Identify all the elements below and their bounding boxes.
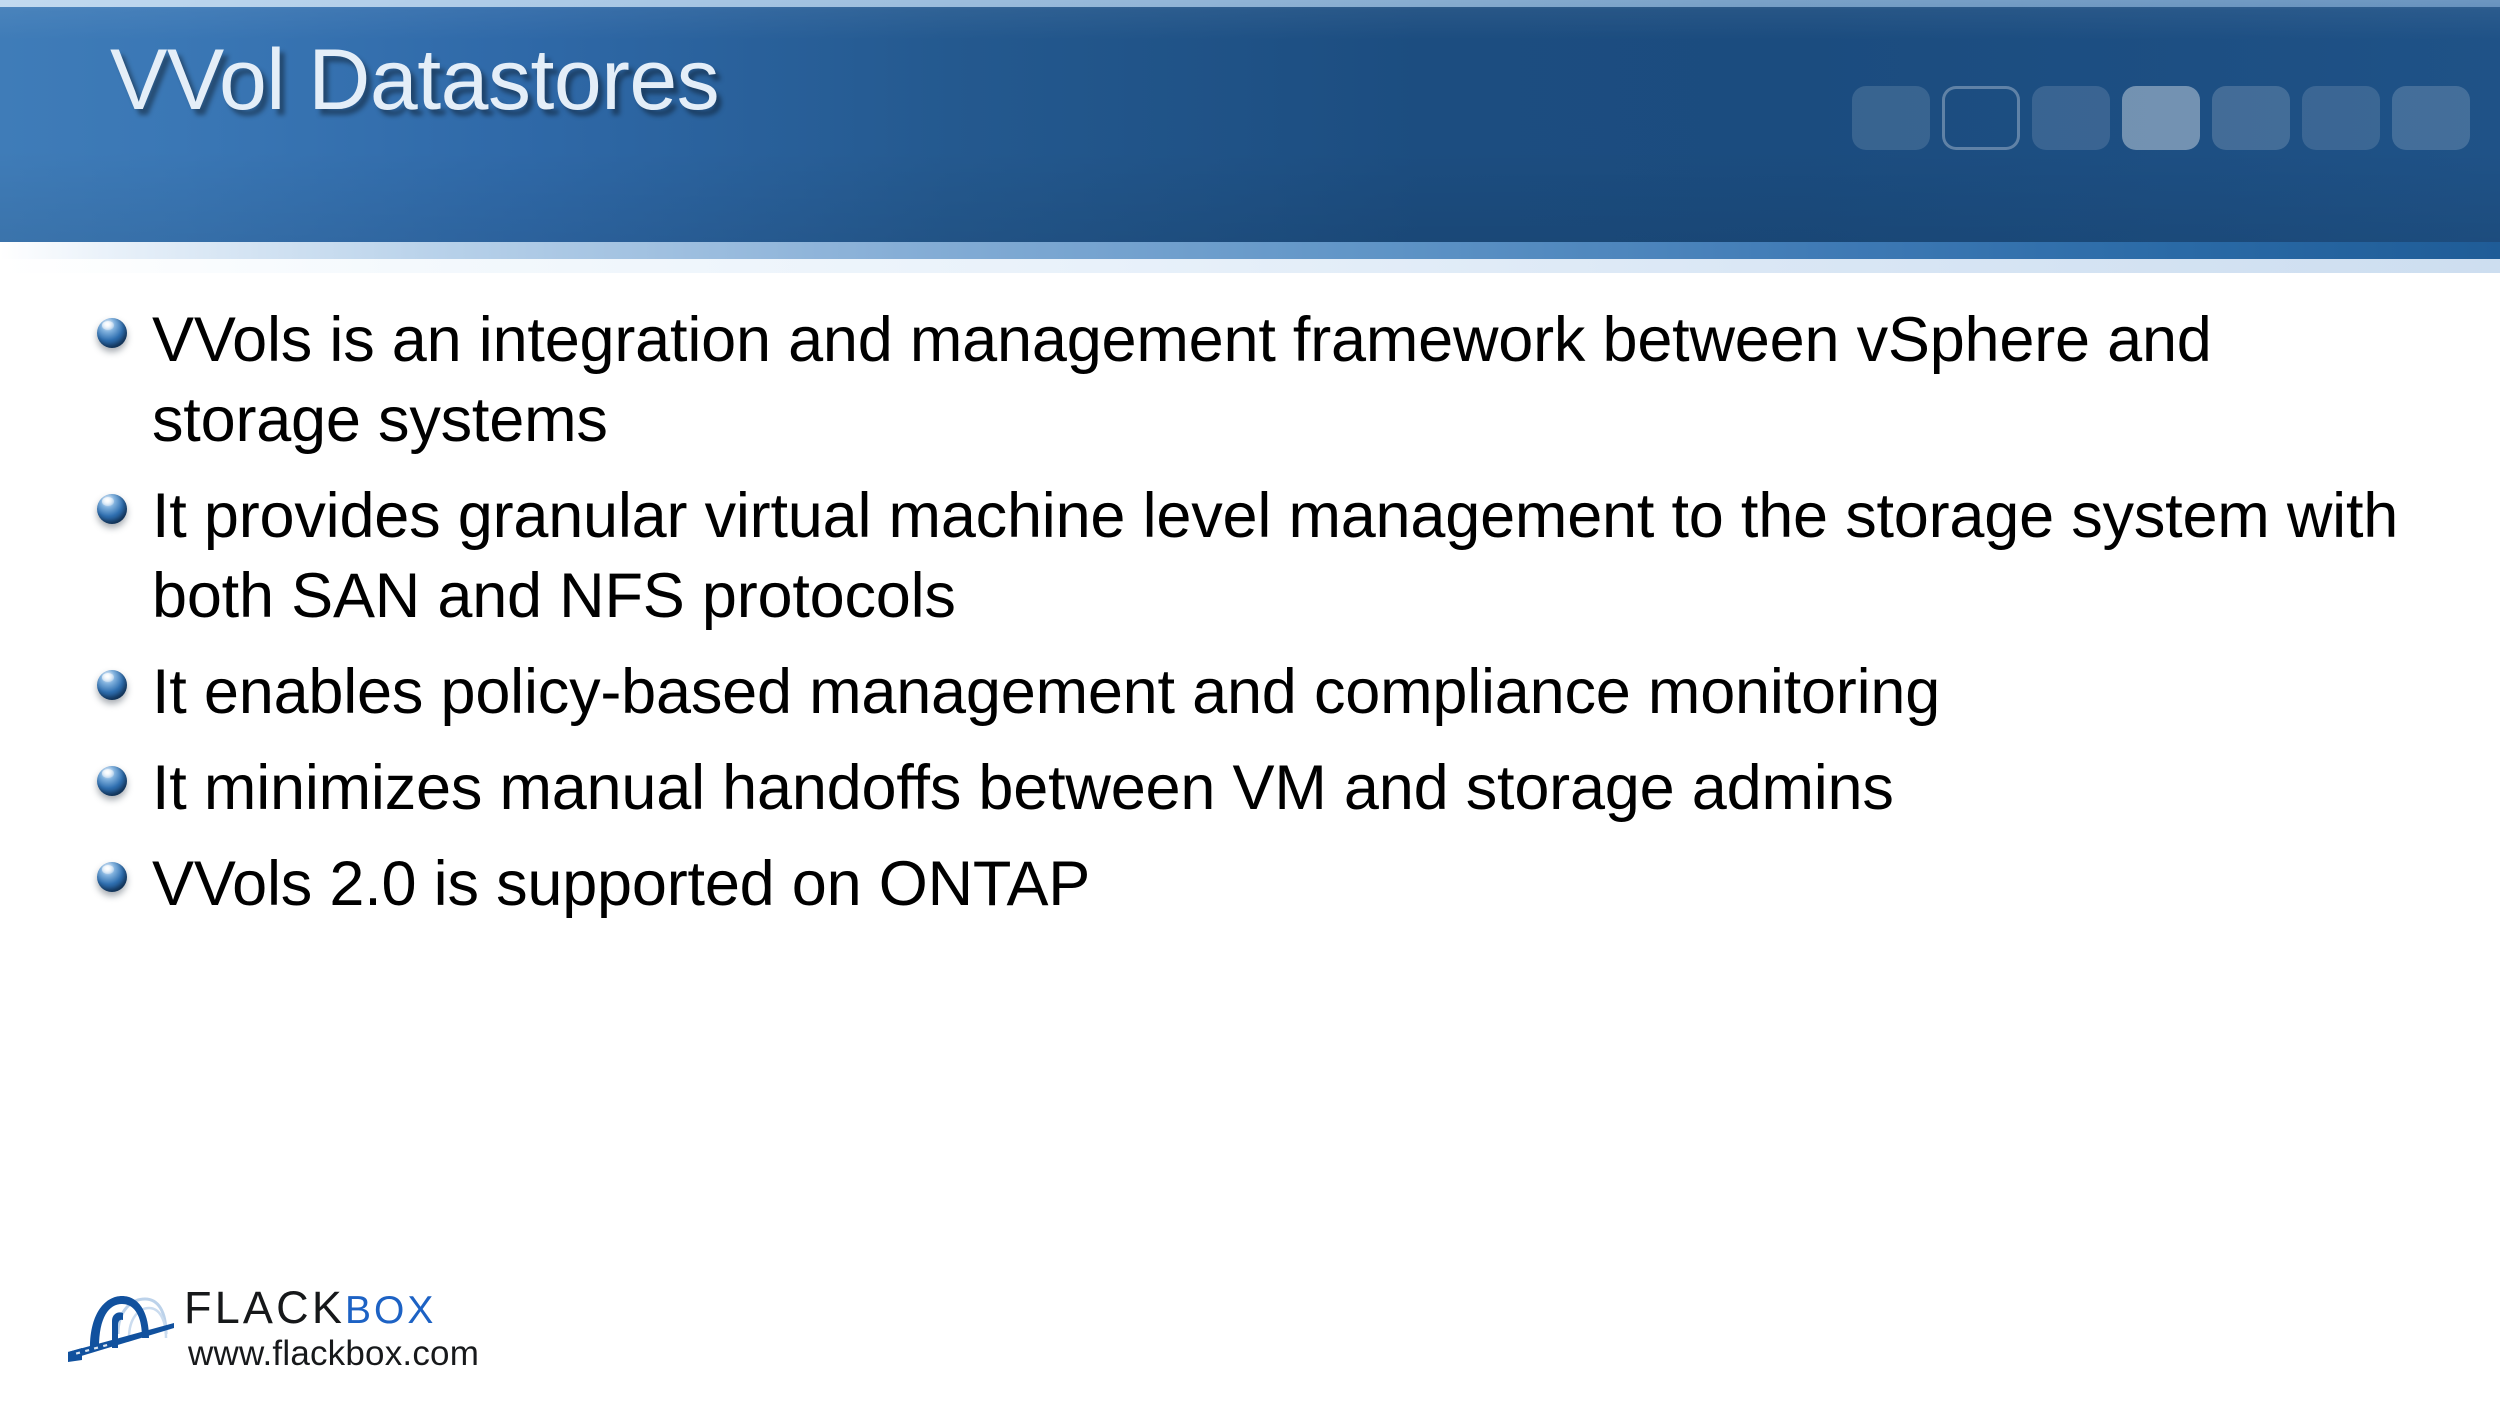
flackbox-logo[interactable]: FLACKBOX www.flackbox.com	[66, 1282, 486, 1382]
header-decor-squares	[1852, 86, 2500, 150]
decor-square-4	[2122, 86, 2200, 150]
flackbox-bridge-logo-icon	[66, 1286, 178, 1364]
header-accent-strip	[0, 242, 2500, 259]
decor-square-7	[2392, 86, 2470, 150]
decor-square-6	[2302, 86, 2380, 150]
blue-sphere-bullet-icon	[96, 318, 130, 352]
blue-sphere-bullet-icon	[96, 670, 130, 704]
list-item: VVols is an integration and management f…	[96, 300, 2426, 460]
bullet-text: It provides granular virtual machine lev…	[152, 476, 2402, 636]
bullet-text: It enables policy-based management and c…	[152, 652, 1940, 732]
slide-header: VVol Datastores	[0, 0, 2500, 242]
list-item: It enables policy-based management and c…	[96, 652, 2426, 732]
list-item: It provides granular virtual machine lev…	[96, 476, 2426, 636]
bullet-text: It minimizes manual handoffs between VM …	[152, 748, 1894, 828]
blue-sphere-bullet-icon	[96, 862, 130, 896]
list-item: VVols 2.0 is supported on ONTAP	[96, 844, 2426, 924]
bullet-list: VVols is an integration and management f…	[96, 300, 2426, 940]
flackbox-wordmark: FLACKBOX	[184, 1284, 436, 1335]
decor-square-5	[2212, 86, 2290, 150]
blue-sphere-bullet-icon	[96, 494, 130, 528]
logo-url-text: www.flackbox.com	[188, 1334, 479, 1374]
header-top-highlight-line	[0, 0, 2500, 7]
header-accent-fade	[0, 259, 2500, 273]
decor-square-3	[2032, 86, 2110, 150]
logo-brand-secondary: BOX	[345, 1289, 436, 1332]
decor-square-1	[1852, 86, 1930, 150]
decor-square-2	[1942, 86, 2020, 150]
list-item: It minimizes manual handoffs between VM …	[96, 748, 2426, 828]
slide-title: VVol Datastores	[110, 28, 719, 132]
blue-sphere-bullet-icon	[96, 766, 130, 800]
bullet-text: VVols 2.0 is supported on ONTAP	[152, 844, 1090, 924]
bullet-text: VVols is an integration and management f…	[152, 300, 2402, 460]
logo-brand-primary: FLACK	[184, 1282, 345, 1333]
slide-root: VVol Datastores VVols is an integration …	[0, 0, 2500, 1406]
